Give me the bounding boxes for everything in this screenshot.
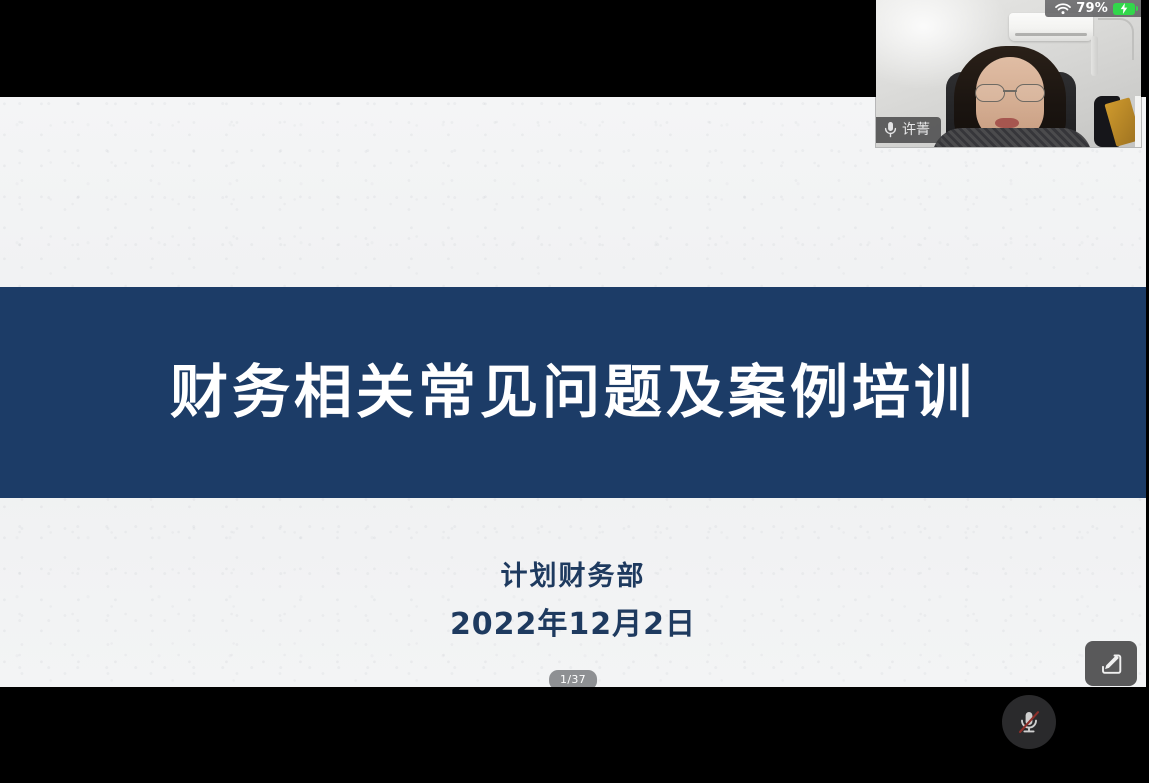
pen-annotate-icon xyxy=(1098,651,1124,677)
air-conditioner xyxy=(1009,13,1093,41)
wall-cord xyxy=(1098,18,1134,60)
screen-share-view: 财务相关常见问题及案例培训 计划财务部 2022年12月2日 1/37 xyxy=(0,0,1149,783)
battery-charging-icon xyxy=(1113,3,1135,15)
mute-button[interactable] xyxy=(1002,695,1056,749)
eyeglasses xyxy=(975,84,1045,100)
slide-date: 2022年12月2日 xyxy=(0,607,1146,643)
air-conditioner-pipe xyxy=(1091,36,1098,76)
slide-title: 财务相关常见问题及案例培训 xyxy=(0,361,1146,425)
participant-video-thumbnail[interactable]: 79% 许菁 xyxy=(876,0,1141,147)
person-mouth xyxy=(995,118,1019,128)
participant-name-label: 许菁 xyxy=(902,123,930,137)
annotate-button[interactable] xyxy=(1085,641,1137,686)
participant-name-tag: 许菁 xyxy=(876,117,941,143)
slide-organization: 计划财务部 xyxy=(0,560,1146,594)
person-shoulders xyxy=(932,128,1092,147)
microphone-icon xyxy=(884,121,897,138)
slide-subtitle-block: 计划财务部 2022年12月2日 xyxy=(0,560,1146,643)
presentation-slide[interactable]: 财务相关常见问题及案例培训 计划财务部 2022年12月2日 1/37 xyxy=(0,97,1146,687)
device-status-bar: 79% xyxy=(1045,0,1141,17)
microphone-muted-icon xyxy=(1014,707,1044,737)
wifi-icon xyxy=(1055,3,1071,15)
title-band: 财务相关常见问题及案例培训 xyxy=(0,287,1146,498)
page-indicator: 1/37 xyxy=(549,670,597,687)
battery-percent-label: 79% xyxy=(1076,2,1108,15)
video-edge-strip xyxy=(1135,96,1141,147)
